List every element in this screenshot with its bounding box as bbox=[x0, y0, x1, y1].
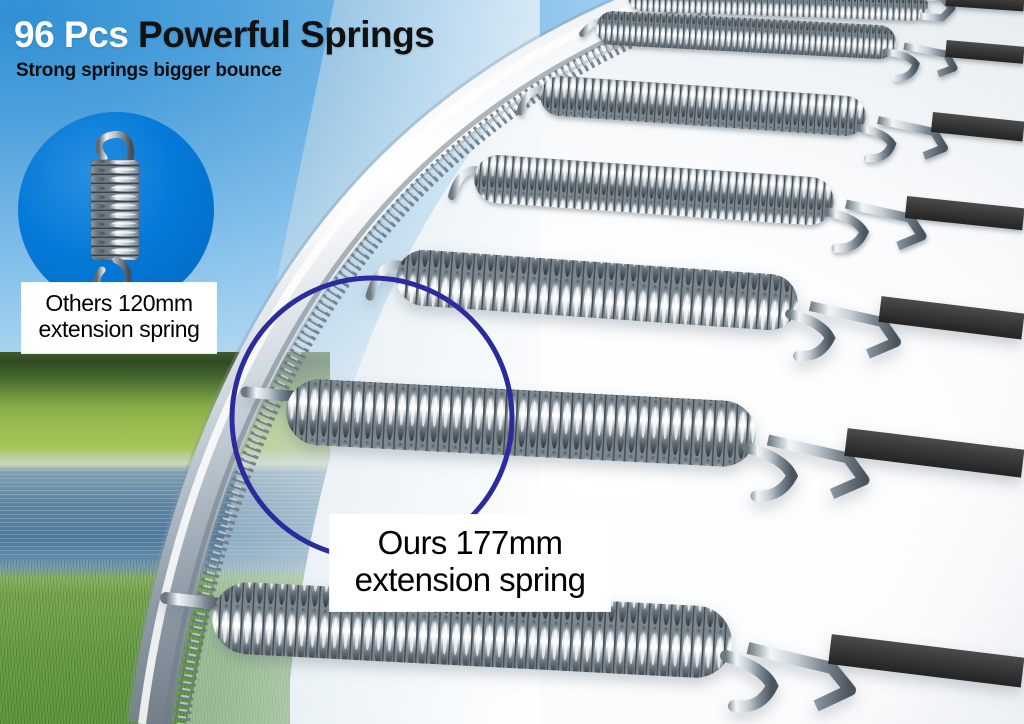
spring-row bbox=[520, 75, 1024, 159]
callout-others-spring: Others 120mm extension spring bbox=[22, 283, 216, 353]
competitor-spring-badge bbox=[18, 112, 214, 308]
spring-row bbox=[452, 154, 1024, 249]
spring-row-highlighted bbox=[246, 378, 1024, 496]
subtitle: Strong springs bigger bounce bbox=[16, 60, 282, 82]
callout-others-line2: extension spring bbox=[26, 317, 212, 343]
callout-others-line1: Others 120mm bbox=[45, 290, 192, 316]
spring-scene-illustration bbox=[0, 0, 1024, 724]
callout-ours-line1: Ours 177mm bbox=[378, 524, 563, 561]
page-title: 96 Pcs Powerful Springs bbox=[14, 14, 434, 56]
headline-rest: Powerful Springs bbox=[128, 14, 434, 55]
callout-ours-spring: Ours 177mm extension spring bbox=[330, 515, 610, 611]
callout-ours-line2: extension spring bbox=[334, 562, 606, 599]
headline-highlight: 96 Pcs bbox=[14, 14, 128, 55]
coil-spring-icon bbox=[18, 112, 214, 308]
product-marketing-image: 96 Pcs Powerful Springs Strong springs b… bbox=[0, 0, 1024, 724]
spring-row bbox=[370, 248, 1024, 356]
spring-row bbox=[582, 10, 1024, 78]
